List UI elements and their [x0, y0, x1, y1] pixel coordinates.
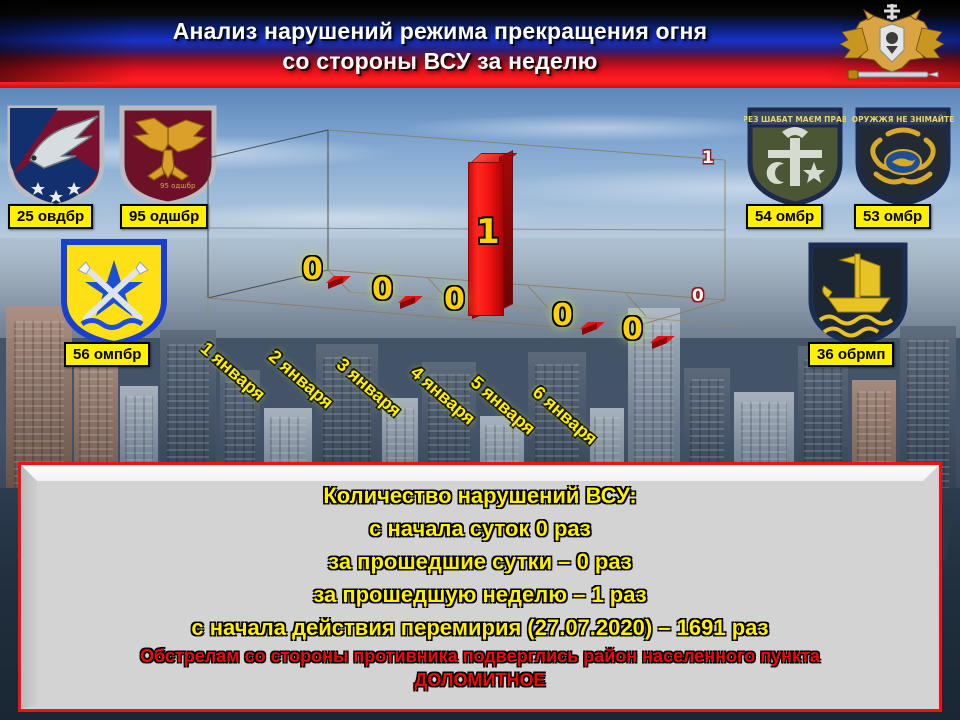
zero-marker-2 [398, 296, 415, 307]
data-label-1: 0 [302, 252, 323, 287]
page-title-line2: со стороны ВСУ за неделю [60, 46, 820, 76]
page-title-line1: Анализ нарушений режима прекращения огня [173, 18, 708, 44]
summary-panel-content: Количество нарушений ВСУ: с начала суток… [21, 479, 939, 692]
svg-text:ОРУЖЖЯ НЕ ЗНІМАЙТЕ: ОРУЖЖЯ НЕ ЗНІМАЙТЕ [852, 115, 954, 124]
data-label-6: 0 [622, 312, 643, 347]
badge-label-53-ombr: 53 омбр [854, 204, 931, 229]
summary-line-1: Количество нарушений ВСУ: [21, 479, 939, 512]
summary-line-5: с начала действия перемирия (27.07.2020)… [21, 611, 939, 644]
data-label-4: 1 [476, 212, 500, 252]
alert-line-2: ДОЛОМИТНОЕ [21, 668, 939, 692]
header-banner: Анализ нарушений режима прекращения огня… [0, 0, 960, 88]
svg-text:ПРЕЗ ШАБАТ МАЄМ ПРАВО: ПРЕЗ ШАБАТ МАЄМ ПРАВО [744, 115, 846, 124]
badge-53-ombr[interactable]: ОРУЖЖЯ НЕ ЗНІМАЙТЕ 53 омбр [852, 104, 954, 213]
chart-wireframe [180, 120, 740, 390]
zero-marker-6 [650, 336, 667, 347]
badge-36-obrmp[interactable]: 36 обрмп [806, 240, 910, 353]
golden-serpents-patch-icon: ОРУЖЖЯ НЕ ЗНІМАЙТЕ [852, 104, 954, 208]
badge-56-ompbr[interactable]: 56 омпбр [60, 238, 168, 353]
badge-label-54-ombr: 54 омбр [746, 204, 823, 229]
eagle-lightning-shield-icon [6, 104, 106, 208]
alert-line-1: Обстрелам со стороны противника подвергл… [21, 644, 939, 668]
badge-54-ombr[interactable]: ПРЕЗ ШАБАТ МАЄМ ПРАВО 54 омбр [744, 104, 846, 213]
data-label-5: 0 [552, 298, 573, 333]
badge-label-36-obrmp: 36 обрмп [808, 342, 894, 367]
slide-root: Анализ нарушений режима прекращения огня… [0, 0, 960, 720]
y-tick-0: 0 [692, 286, 704, 306]
badge-label-25-ovdbr: 25 овдбр [8, 204, 93, 229]
summary-line-2: с начала суток 0 раз [21, 512, 939, 545]
header-red-strip [0, 82, 960, 88]
violations-3d-bar-chart: 0 0 0 1 0 0 1 0 1 января 2 января 3 янва… [180, 120, 740, 390]
zero-marker-1 [326, 276, 343, 287]
y-tick-1: 1 [702, 148, 714, 168]
zero-marker-5 [580, 322, 597, 333]
double-headed-eagle-emblem-icon [834, 2, 950, 88]
data-label-2: 0 [372, 272, 393, 307]
data-label-3: 0 [444, 282, 465, 317]
blue-yellow-star-spears-shield-icon [60, 238, 168, 348]
golden-ship-waves-shield-icon [806, 240, 910, 348]
olive-trident-patch-icon: ПРЕЗ ШАБАТ МАЄМ ПРАВО [744, 104, 846, 208]
summary-panel: Количество нарушений ВСУ: с начала суток… [18, 462, 942, 712]
summary-line-3: за прошедшие сутки – 0 раз [21, 545, 939, 578]
badge-label-56-ompbr: 56 омпбр [64, 342, 150, 367]
badge-25-ovdbr[interactable]: 25 овдбр [6, 104, 106, 213]
page-title: Анализ нарушений режима прекращения огня… [60, 16, 820, 76]
summary-line-4: за прошедшую неделю – 1 раз [21, 578, 939, 611]
